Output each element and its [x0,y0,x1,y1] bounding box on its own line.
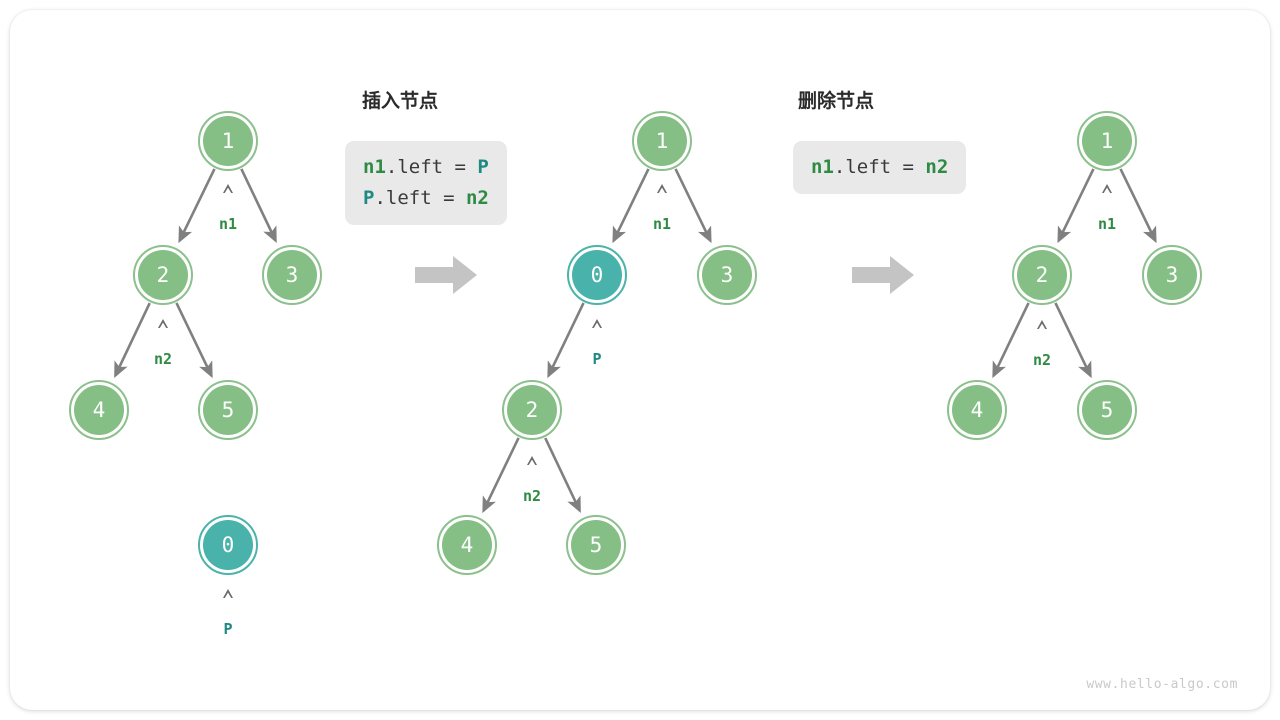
insert-pointer-p: P [592,350,601,368]
delete-node-4: 4 [947,380,1007,440]
node-value: 3 [1166,265,1179,286]
code-line-insert-2: P.left = n2 [363,183,489,214]
code-token-green: n2 [925,156,948,178]
before-node-2: 2 [133,245,193,305]
delete-pointer-n1: n1 [1098,215,1116,233]
code-token-green: n2 [466,187,489,209]
code-token-green: n1 [363,156,386,178]
code-token-plain: .left = [834,156,926,178]
node-value: 5 [590,535,603,556]
insert-node-2: 2 [502,380,562,440]
code-token-plain: .left = [374,187,466,209]
before-node-3: 3 [262,245,322,305]
node-value: 4 [461,535,474,556]
node-value: 2 [157,265,170,286]
delete-node-3: 3 [1142,245,1202,305]
before-node-0: 0 [198,515,258,575]
node-value: 1 [656,131,669,152]
code-snippet-delete: n1.left = n2 [793,141,966,194]
section-title-insert: 插入节点 [362,86,438,113]
code-line-delete-1: n1.left = n2 [811,152,948,183]
diagram-stage: 123450n1n2P103245n1Pn212345n1n2 插入节点 删除节… [0,0,1280,720]
before-node-4: 4 [69,380,129,440]
code-token-plain: .left = [386,156,478,178]
insert-node-1: 1 [632,111,692,171]
watermark: www.hello-algo.com [1086,677,1238,692]
code-line-insert-1: n1.left = P [363,152,489,183]
node-value: 5 [222,400,235,421]
node-value: 1 [1101,131,1114,152]
delete-node-5: 5 [1077,380,1137,440]
delete-node-1: 1 [1077,111,1137,171]
code-token-teal: P [477,156,488,178]
node-value: 2 [526,400,539,421]
delete-pointer-n2: n2 [1033,351,1051,369]
before-pointer-p: P [223,620,232,638]
node-value: 2 [1036,265,1049,286]
node-value: 4 [971,400,984,421]
before-node-1: 1 [198,111,258,171]
insert-pointer-n2: n2 [523,487,541,505]
node-value: 3 [721,265,734,286]
node-value: 3 [286,265,299,286]
node-value: 1 [222,131,235,152]
node-value: 0 [591,265,604,286]
before-pointer-n1: n1 [219,215,237,233]
insert-node-5: 5 [566,515,626,575]
diagram-card [10,10,1270,710]
insert-node-0: 0 [567,245,627,305]
code-snippet-insert: n1.left = PP.left = n2 [345,141,507,225]
node-value: 0 [222,535,235,556]
node-value: 5 [1101,400,1114,421]
insert-pointer-n1: n1 [653,215,671,233]
before-node-5: 5 [198,380,258,440]
before-pointer-n2: n2 [154,350,172,368]
code-token-green: n1 [811,156,834,178]
insert-node-4: 4 [437,515,497,575]
section-title-delete: 删除节点 [798,86,874,113]
delete-node-2: 2 [1012,245,1072,305]
insert-node-3: 3 [697,245,757,305]
node-value: 4 [93,400,106,421]
code-token-teal: P [363,187,374,209]
